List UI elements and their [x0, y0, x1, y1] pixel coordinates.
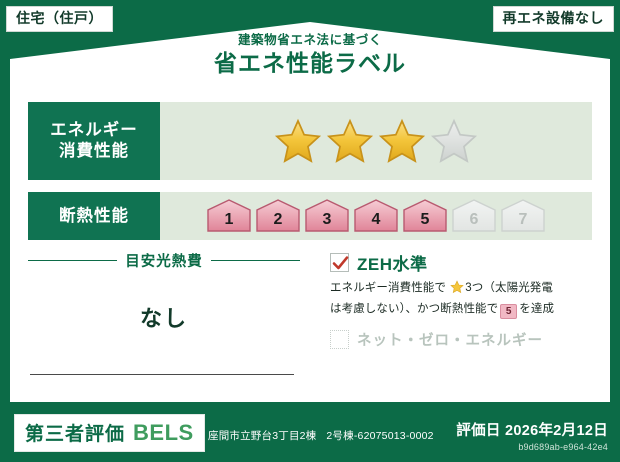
insulation-row-header: 断熱性能 — [28, 192, 160, 240]
zeh-checked-row: ZEH水準 — [330, 250, 592, 275]
energy-header-line1: エネルギー — [50, 120, 138, 141]
property-address-line: 座間市立野台3丁目2棟2号棟-62075013-0002 — [208, 428, 434, 443]
zeh-desc-part1: エネルギー消費性能で — [330, 282, 446, 294]
insulation-chip-active: 1 — [206, 199, 252, 233]
property-address: 座間市立野台3丁目2棟 — [208, 430, 316, 442]
insulation-grade-badge: 5 — [500, 304, 517, 319]
utility-cost-panel: 目安光熱費 なし — [28, 250, 300, 396]
star-empty-icon — [430, 118, 478, 164]
badge-building-type: 住宅（住戸） — [6, 6, 113, 32]
star-filled-icon — [378, 118, 426, 164]
insulation-chip-active: 3 — [304, 199, 350, 233]
evaluation-date-value: 2026年2月12日 — [505, 423, 608, 439]
rule-left — [28, 260, 117, 261]
building-number: 2号棟-62075013-0002 — [326, 430, 433, 442]
star-filled-icon — [274, 118, 322, 164]
checkbox-unchecked-icon — [330, 330, 349, 349]
zeh-panel: ZEH水準 エネルギー消費性能で 3つ（太陽光発電 は考慮しない）、かつ断熱性能… — [330, 250, 592, 396]
zeh-description: エネルギー消費性能で 3つ（太陽光発電 は考慮しない）、かつ断熱性能で5を達成 — [330, 280, 592, 319]
insulation-chip-active: 4 — [353, 199, 399, 233]
energy-row-header: エネルギー 消費性能 — [28, 102, 160, 180]
insulation-chip-active: 2 — [255, 199, 301, 233]
bels-wordmark: BELS — [133, 420, 194, 446]
zeh-standard-label: ZEH水準 — [357, 250, 428, 275]
label-footer: 第三者評価 BELS 座間市立野台3丁目2棟2号棟-62075013-0002 … — [0, 408, 620, 462]
utility-cost-heading-text: 目安光熱費 — [125, 250, 203, 271]
evaluation-hash: b9d689ab-e964-42e4 — [456, 442, 608, 452]
zeh-netzero-label: ネット・ゼロ・エネルギー — [357, 329, 543, 350]
star-rating — [160, 102, 592, 180]
evaluation-date-label: 評価日 — [456, 423, 500, 439]
insulation-chip-active: 5 — [402, 199, 448, 233]
zeh-netzero-row: ネット・ゼロ・エネルギー — [330, 329, 592, 350]
insulation-level-scale: 1234567 — [160, 192, 592, 240]
third-party-evaluation-text: 第三者評価 — [25, 419, 125, 446]
insulation-chip-inactive: 7 — [500, 199, 546, 233]
rule-right — [211, 260, 300, 261]
evaluation-meta: 評価日 2026年2月12日 b9d689ab-e964-42e4 — [456, 419, 608, 452]
insulation-performance-row: 断熱性能 1234567 — [28, 192, 592, 240]
star-filled-icon — [326, 118, 374, 164]
zeh-desc-part2: は考慮しない）、かつ断熱性能で — [330, 303, 498, 315]
checkbox-checked-icon — [330, 253, 349, 272]
zeh-desc-part3: を達成 — [519, 303, 554, 315]
inline-star-icon — [447, 285, 464, 297]
utility-cost-value: なし — [28, 301, 300, 333]
insulation-header-line1: 断熱性能 — [59, 206, 129, 227]
energy-performance-row: エネルギー 消費性能 — [28, 102, 592, 180]
utility-cost-heading: 目安光熱費 — [28, 250, 300, 271]
energy-header-line2: 消費性能 — [59, 141, 129, 162]
panel-divider — [30, 374, 294, 375]
energy-performance-label: 住宅（住戸） 再エネ設備なし 建築物省エネ法に基づく 省エネ性能ラベル エネルギ… — [0, 0, 620, 462]
evaluation-date: 評価日 2026年2月12日 — [456, 419, 608, 440]
bels-logo-plate: 第三者評価 BELS — [14, 414, 205, 452]
insulation-chip-inactive: 6 — [451, 199, 497, 233]
badge-renewable-equipment: 再エネ設備なし — [493, 6, 615, 32]
zeh-desc-stars: 3つ（太陽光発電 — [465, 282, 553, 294]
